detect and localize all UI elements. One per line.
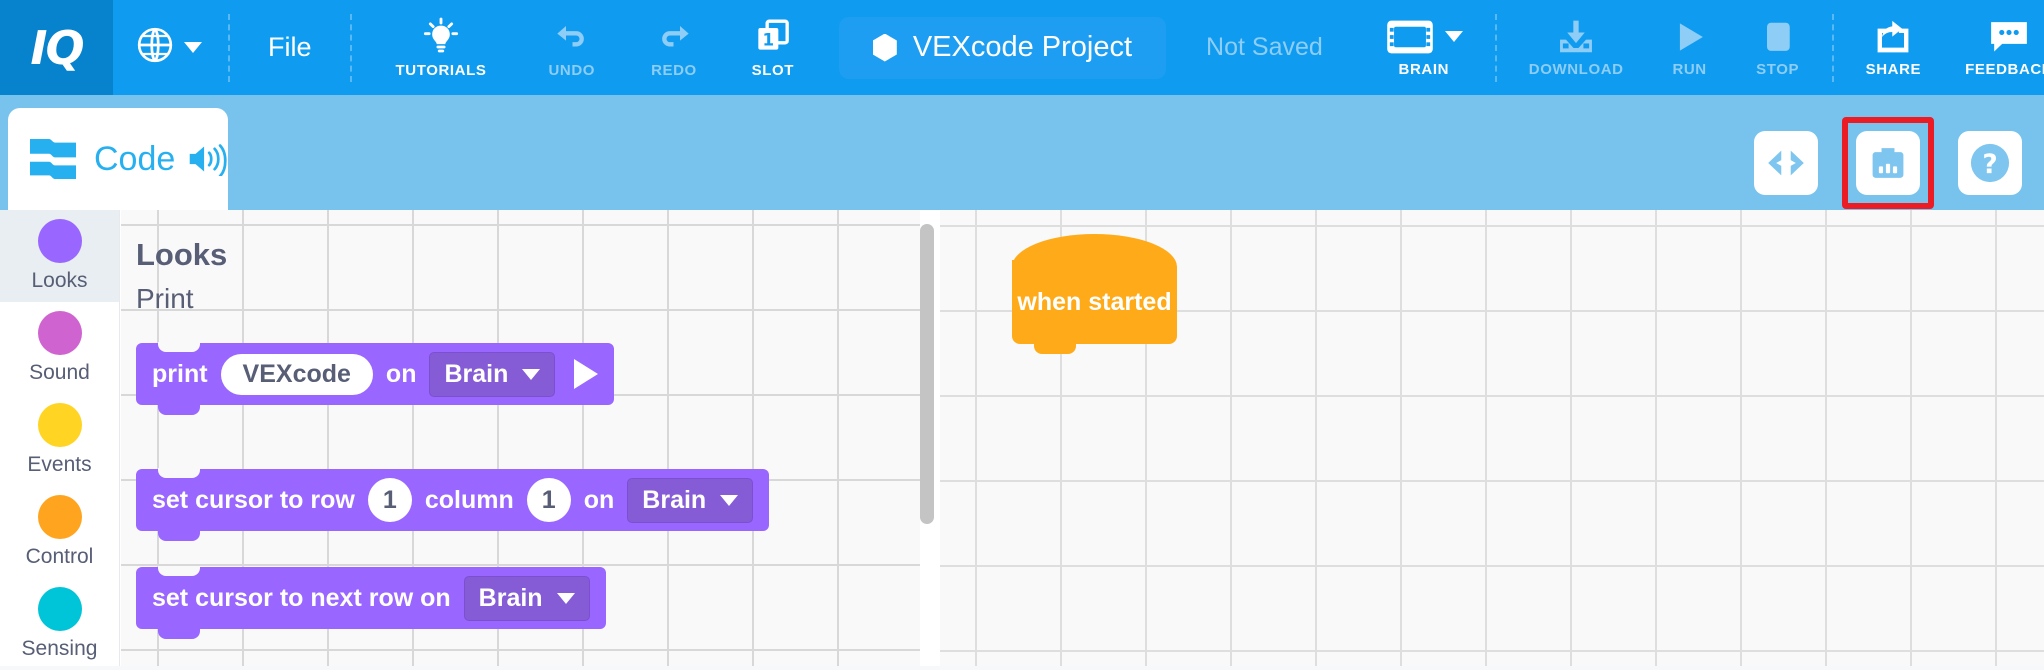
redo-button[interactable]: REDO (623, 0, 725, 95)
toolbar-divider-4 (1832, 14, 1834, 82)
download-label: DOWNLOAD (1529, 61, 1624, 78)
logo-text: IQ (30, 21, 82, 75)
sidebar-item-label: Events (27, 453, 91, 477)
lightbulb-icon (421, 17, 461, 57)
angle-brackets-icon (1766, 148, 1806, 178)
code-subheader: Code (0, 95, 2044, 210)
chevron-down-icon (720, 495, 738, 506)
file-menu-label: File (268, 32, 312, 63)
play-icon (1668, 18, 1712, 56)
palette-heading: Looks (136, 237, 227, 273)
events-color-dot (38, 403, 82, 447)
sidebar-item-label: Sensing (22, 637, 98, 661)
set-cursor-column-label: column (425, 486, 514, 515)
brain-device-icon (1385, 18, 1435, 56)
set-cursor-device-dropdown[interactable]: Brain (627, 478, 753, 523)
chevron-down-icon (522, 369, 540, 380)
palette-subheading: Print (136, 283, 194, 315)
palette-scrollbar[interactable] (920, 224, 934, 524)
print-block-on-label: on (386, 360, 417, 389)
device-info-button[interactable] (1856, 131, 1920, 195)
control-color-dot (38, 495, 82, 539)
brain-device-icon (1867, 144, 1909, 182)
block-category-rail: Looks Sound Events Control Sensing (0, 210, 120, 666)
slot-icon: 1 (751, 17, 795, 57)
set-cursor-next-row-label: set cursor to next row on (152, 584, 451, 613)
slot-selector[interactable]: 1 SLOT (725, 0, 821, 95)
question-mark-icon: ? (1968, 141, 2012, 185)
print-device-dropdown[interactable]: Brain (429, 352, 555, 397)
share-export-icon (1871, 18, 1915, 56)
sidebar-item-events[interactable]: Events (0, 394, 119, 486)
code-workspace[interactable]: when started (940, 210, 2044, 666)
chevron-down-icon (184, 42, 202, 53)
row-number-input[interactable]: 1 (368, 478, 412, 522)
tab-code-label: Code (94, 140, 175, 179)
project-name-label: VEXcode Project (913, 31, 1132, 64)
chevron-down-icon (1445, 31, 1463, 42)
play-icon[interactable] (574, 359, 598, 389)
print-text-input[interactable]: VEXcode (221, 354, 373, 395)
sidebar-item-label: Looks (31, 269, 87, 293)
set-cursor-device-value: Brain (642, 486, 706, 515)
undo-button[interactable]: UNDO (520, 0, 623, 95)
sidebar-item-looks[interactable]: Looks (0, 210, 119, 302)
when-started-label: when started (1017, 288, 1171, 317)
brain-selector[interactable]: BRAIN (1363, 0, 1485, 95)
run-label: RUN (1672, 61, 1706, 78)
sidebar-item-label: Control (26, 545, 94, 569)
share-button[interactable]: SHARE (1844, 0, 1944, 95)
next-row-device-value: Brain (479, 584, 543, 613)
subheader-actions: ? (1754, 117, 2022, 209)
next-row-device-dropdown[interactable]: Brain (464, 576, 590, 621)
print-device-value: Brain (444, 360, 508, 389)
device-info-highlight (1842, 117, 1934, 209)
column-number-input[interactable]: 1 (527, 478, 571, 522)
sound-color-dot (38, 311, 82, 355)
speaker-icon[interactable] (187, 142, 227, 176)
sensing-color-dot (38, 587, 82, 631)
block-palette[interactable]: Looks Print print VEXcode on Brain set c… (121, 210, 920, 666)
palette-block-set-cursor-next-row[interactable]: set cursor to next row on Brain (136, 567, 606, 629)
file-menu[interactable]: File (240, 0, 340, 95)
stop-button[interactable]: STOP (1734, 0, 1822, 95)
set-cursor-row-label: set cursor to row (152, 486, 355, 515)
slot-label: SLOT (752, 62, 794, 79)
workspace-block-when-started[interactable]: when started (1012, 260, 1177, 344)
vex-iq-logo[interactable]: IQ (0, 0, 113, 95)
palette-block-print[interactable]: print VEXcode on Brain (136, 343, 614, 405)
project-name-field[interactable]: VEXcode Project (839, 17, 1166, 79)
stop-label: STOP (1756, 61, 1799, 78)
top-toolbar: IQ File TUTORIALS (0, 0, 2044, 95)
svg-text:?: ? (1982, 149, 1997, 180)
sidebar-item-sensing[interactable]: Sensing (0, 578, 119, 670)
globe-icon (135, 25, 175, 70)
tutorials-label: TUTORIALS (396, 62, 487, 79)
palette-block-set-cursor-row-column[interactable]: set cursor to row 1 column 1 on Brain (136, 469, 769, 531)
language-selector[interactable] (113, 0, 218, 95)
hexagon-icon (873, 34, 897, 62)
redo-label: REDO (651, 62, 697, 79)
run-button[interactable]: RUN (1646, 0, 1734, 95)
main-area: Looks Sound Events Control Sensing Looks… (0, 210, 2044, 666)
tutorials-button[interactable]: TUTORIALS (362, 0, 521, 95)
tab-code[interactable]: Code (8, 108, 228, 210)
svg-text:1: 1 (762, 30, 774, 49)
feedback-button[interactable]: FEEDBACK (1943, 0, 2044, 95)
set-cursor-on-label: on (584, 486, 615, 515)
toolbar-divider-1 (228, 14, 230, 82)
undo-label: UNDO (548, 62, 595, 79)
save-status: Not Saved (1166, 0, 1363, 95)
feedback-label: FEEDBACK (1965, 61, 2044, 78)
redo-arrow-icon (652, 17, 696, 57)
sidebar-item-control[interactable]: Control (0, 486, 119, 578)
chevron-down-icon (557, 593, 575, 604)
text-code-toggle-button[interactable] (1754, 131, 1818, 195)
looks-color-dot (38, 219, 82, 263)
download-button[interactable]: DOWNLOAD (1507, 0, 1646, 95)
stop-square-icon (1756, 18, 1800, 56)
toolbar-divider-3 (1495, 14, 1497, 82)
toolbar-divider-2 (350, 14, 352, 82)
share-label: SHARE (1866, 61, 1922, 78)
code-blocks-icon (26, 135, 82, 183)
print-block-label: print (152, 360, 208, 389)
sidebar-item-label: Sound (29, 361, 90, 385)
download-icon (1553, 18, 1599, 56)
comment-dots-icon (1986, 18, 2032, 56)
brain-label: BRAIN (1399, 61, 1450, 78)
undo-arrow-icon (550, 17, 594, 57)
help-button[interactable]: ? (1958, 131, 2022, 195)
sidebar-item-sound[interactable]: Sound (0, 302, 119, 394)
hat-block-nub (1034, 344, 1076, 354)
save-status-label: Not Saved (1206, 33, 1323, 62)
